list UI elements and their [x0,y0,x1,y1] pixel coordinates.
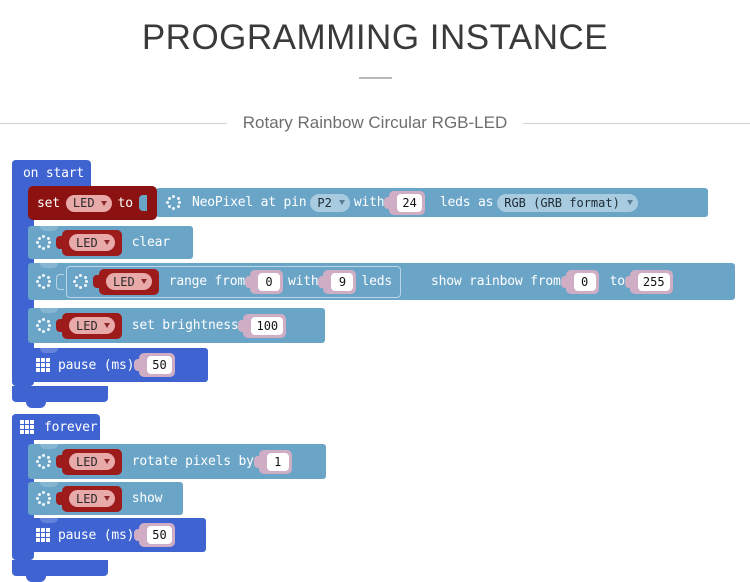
neopixel-text-1: NeoPixel at pin [192,195,306,210]
chevron-down-icon [141,279,147,284]
row-pause-forever[interactable]: pause (ms) 50 [28,518,206,552]
rotate-amount-input[interactable]: 1 [259,450,292,474]
range-from-label: range from [169,274,245,289]
show-label: show [132,491,163,506]
on-start-footer [12,386,108,402]
variable-name: LED [76,492,98,506]
led-ring-icon [36,235,51,250]
variable-dropdown-led[interactable]: LED [69,453,115,470]
on-start-label: on start [23,166,84,181]
row-led-show[interactable]: LED show [28,482,183,515]
set-variable-block[interactable]: set LED to [28,186,157,220]
chevron-down-icon [101,201,107,206]
rainbow-from-input[interactable]: 0 [566,270,599,294]
leds-count-value: 24 [397,194,421,212]
clear-label: clear [132,235,170,250]
variable-block-led[interactable]: LED [62,230,122,256]
subtitle-rule-right [523,123,750,124]
pause-label: pause (ms) [58,358,134,373]
grid-icon [20,420,34,434]
range-count-value: 9 [331,273,353,291]
variable-dropdown-led[interactable]: LED [106,273,152,290]
variable-block-led[interactable]: LED [62,313,122,339]
variable-dropdown-led[interactable]: LED [66,195,112,212]
led-ring-icon [166,195,181,210]
pin-dropdown[interactable]: P2 [310,194,349,212]
variable-name: LED [113,275,135,289]
variable-name: LED [73,196,95,210]
neopixel-text-3: leds as [440,195,493,210]
title-divider [359,77,392,79]
variable-block-led[interactable]: LED [62,449,122,475]
variable-block-led[interactable]: LED [99,269,159,295]
pause-value: 50 [147,356,171,374]
variable-block-led[interactable]: LED [62,486,122,512]
led-ring-icon [36,318,51,333]
set-label: set [37,196,60,211]
variable-name: LED [76,236,98,250]
format-value: RGB (GRB format) [504,196,620,210]
pause-input[interactable]: 50 [139,523,174,547]
variable-dropdown-led[interactable]: LED [69,317,115,334]
variable-name: LED [76,319,98,333]
led-ring-icon [36,491,51,506]
format-dropdown[interactable]: RGB (GRB format) [497,194,638,212]
row-rotate-pixels[interactable]: LED rotate pixels by 1 [28,444,326,479]
forever-label: forever [44,420,97,435]
subtitle: Rotary Rainbow Circular RGB-LED [227,113,524,133]
row-show-rainbow[interactable]: LED range from 0 with 9 leds show rainbo… [28,263,735,300]
led-ring-icon [36,454,51,469]
led-ring-icon [36,274,51,289]
leds-count-input[interactable]: 24 [389,191,424,215]
grid-icon [36,528,50,542]
set-brightness-label: set brightness [132,318,239,333]
page-title: PROGRAMMING INSTANCE [0,18,750,58]
range-from-input[interactable]: 0 [250,270,283,294]
chevron-down-icon [104,496,110,501]
row-led-clear[interactable]: LED clear [28,226,193,259]
pin-value: P2 [317,196,331,210]
range-count-input[interactable]: 9 [323,270,356,294]
blockly-canvas: on start set LED to [0,150,750,582]
range-leds-label: leds [361,274,392,289]
pause-value: 50 [147,526,171,544]
subtitle-rule-left [0,123,227,124]
chevron-down-icon [104,240,110,245]
grid-icon [36,358,50,372]
row-pause-start[interactable]: pause (ms) 50 [28,348,208,382]
forever-footer [12,560,108,576]
rainbow-from-value: 0 [574,273,596,291]
variable-name: LED [76,455,98,469]
rainbow-to-label: to [610,274,625,289]
range-from-value: 0 [258,273,280,291]
brightness-input[interactable]: 100 [243,314,286,338]
to-label: to [118,196,133,211]
brightness-value: 100 [251,317,283,335]
led-range-reporter-block[interactable]: LED range from 0 with 9 leds [66,266,401,298]
forever-header[interactable]: forever [12,414,100,440]
rainbow-to-input[interactable]: 255 [630,270,673,294]
nested-plug [56,274,64,290]
pause-label: pause (ms) [58,528,134,543]
subtitle-row: Rotary Rainbow Circular RGB-LED [0,112,750,134]
variable-dropdown-led[interactable]: LED [69,490,115,507]
rotate-pixels-label: rotate pixels by [132,454,254,469]
led-ring-icon [73,274,88,289]
row-set-brightness[interactable]: LED set brightness 100 [28,308,325,343]
neopixel-reporter-block[interactable]: NeoPixel at pin P2 with 24 leds as RGB (… [156,188,708,217]
variable-dropdown-led[interactable]: LED [69,234,115,251]
on-start-header[interactable]: on start [12,160,91,186]
chevron-down-icon [339,200,345,205]
chevron-down-icon [104,459,110,464]
pause-input[interactable]: 50 [139,353,174,377]
chevron-down-icon [627,200,633,205]
rainbow-to-value: 255 [638,273,670,291]
neopixel-text-2: with [354,195,385,210]
show-rainbow-label: show rainbow from [431,274,561,289]
range-with-label: with [288,274,319,289]
rotate-amount-value: 1 [267,453,289,471]
chevron-down-icon [104,323,110,328]
